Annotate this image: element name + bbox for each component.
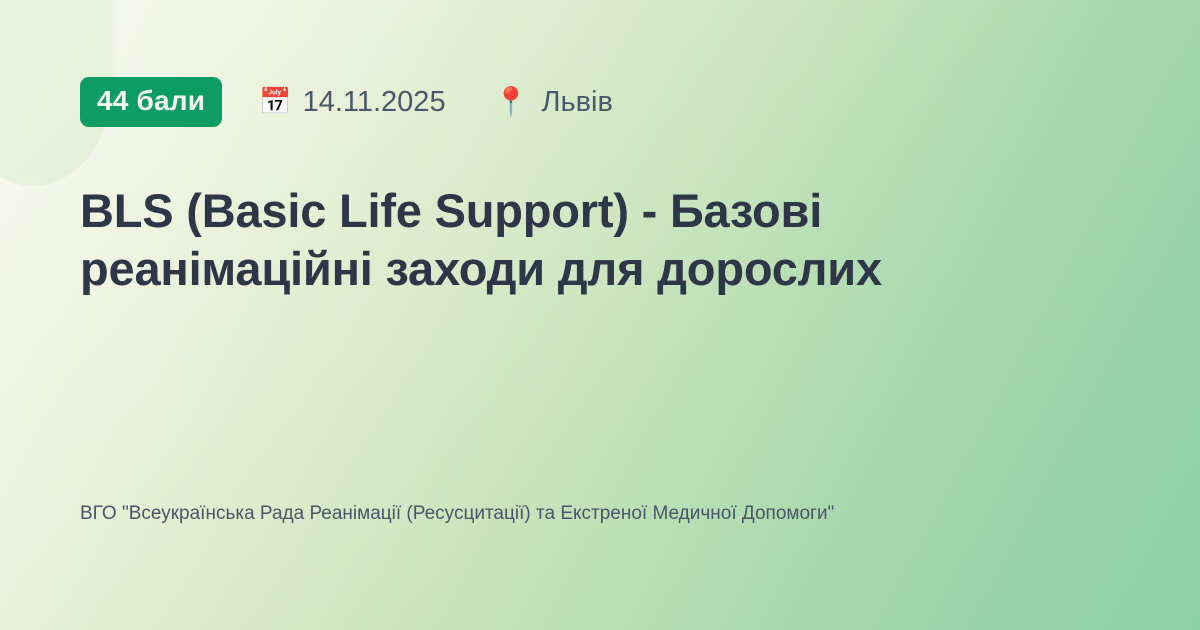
event-date-value: 14.11.2025 — [303, 88, 446, 117]
meta-row: 44 бали 📅 14.11.2025 📍 Львів — [80, 78, 613, 126]
event-date: 📅 14.11.2025 — [259, 88, 445, 117]
page-title: BLS (Basic Life Support) - Базові реанім… — [80, 182, 1090, 299]
event-card: 44 бали 📅 14.11.2025 📍 Львів BLS (Basic … — [0, 0, 1200, 630]
round-pushpin-icon: 📍 — [494, 88, 529, 116]
organizer-name: ВГО "Всеукраїнська Рада Реанімації (Ресу… — [80, 500, 960, 528]
event-location: 📍 Львів — [494, 88, 613, 117]
points-badge: 44 бали — [80, 77, 222, 127]
event-location-value: Львів — [541, 88, 612, 117]
spiral-calendar-icon: 📅 — [259, 89, 291, 115]
